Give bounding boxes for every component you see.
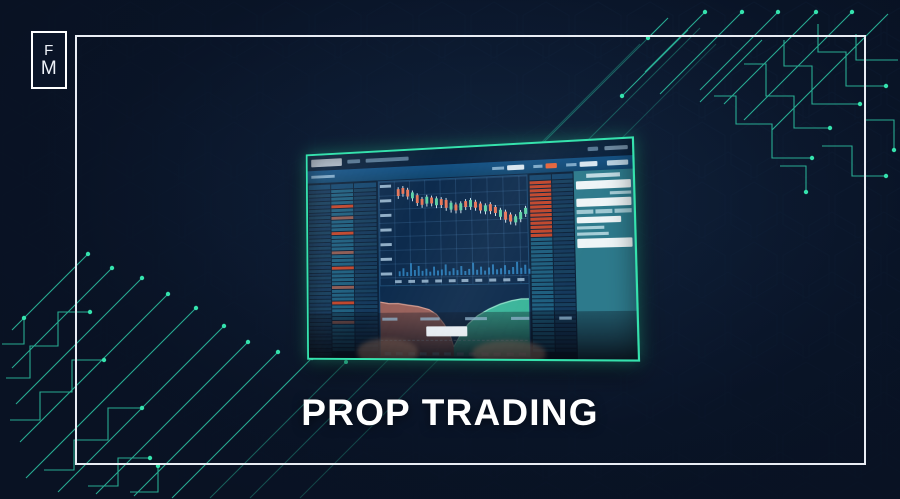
- page-title: PROP TRADING: [0, 392, 900, 434]
- table-row: [554, 270, 575, 273]
- symbol-tab[interactable]: [311, 175, 334, 179]
- table-row: [553, 233, 574, 237]
- trading-monitor: [306, 136, 640, 361]
- x-tick: [503, 278, 510, 281]
- table-row: [309, 288, 331, 291]
- table-row: [332, 297, 354, 300]
- table-row: [532, 274, 553, 277]
- table-row: [310, 304, 332, 307]
- y-tick: [380, 199, 391, 202]
- order-field-1[interactable]: [576, 179, 631, 190]
- menu-item-3[interactable]: [588, 147, 599, 152]
- table-row: [531, 266, 552, 269]
- hand-left: [357, 338, 418, 359]
- table-row: [332, 266, 354, 269]
- table-row: [355, 278, 377, 281]
- y-tick: [380, 214, 391, 217]
- table-row: [355, 309, 377, 312]
- table-row: [530, 225, 551, 229]
- fm-logo-letter-f: F: [44, 43, 54, 58]
- table-row: [309, 269, 331, 272]
- y-tick: [381, 272, 392, 275]
- table-row: [355, 250, 377, 253]
- quote-value-2: [545, 163, 556, 169]
- candlestick-series: [394, 180, 524, 233]
- quick-order-input[interactable]: [426, 326, 467, 336]
- fm-logo: F M: [31, 31, 67, 89]
- table-row: [309, 292, 331, 295]
- sales-column-1-header: [529, 174, 550, 180]
- order-label-3: [577, 232, 609, 236]
- fm-logo-letter-m: M: [41, 59, 57, 78]
- table-row: [553, 229, 574, 233]
- dashboard-brand-logo: [311, 158, 342, 167]
- order-panel-title: [586, 172, 620, 178]
- table-row: [355, 305, 377, 308]
- table-row: [355, 270, 377, 273]
- table-row: [332, 274, 354, 277]
- chart-y-axis: [380, 185, 394, 276]
- table-row: [553, 253, 574, 257]
- table-row: [531, 250, 552, 254]
- table-row: [355, 274, 377, 277]
- table-row: [309, 258, 331, 261]
- quote-value-3: [580, 161, 598, 167]
- menu-item-2[interactable]: [366, 157, 409, 163]
- table-row: [355, 301, 377, 304]
- x-tick: [421, 280, 428, 283]
- x-tick: [462, 279, 469, 282]
- menu-item-4[interactable]: [604, 145, 627, 150]
- footer-label-2: [420, 317, 439, 320]
- table-row: [355, 254, 377, 257]
- trading-monitor-wrapper: [296, 145, 632, 360]
- table-row: [332, 270, 354, 273]
- table-row: [309, 300, 331, 303]
- table-row: [554, 291, 575, 294]
- table-row: [355, 285, 377, 288]
- table-row: [332, 301, 354, 304]
- table-row: [355, 293, 377, 296]
- table-row: [532, 299, 553, 302]
- quote-label-1: [492, 167, 504, 171]
- order-toggle-buy[interactable]: [577, 209, 594, 214]
- footer-label-4: [511, 317, 529, 320]
- table-row: [531, 233, 552, 237]
- quote-value-1: [507, 165, 524, 171]
- table-row: [332, 278, 354, 281]
- order-toggle-group[interactable]: [577, 208, 632, 214]
- quote-label-3: [566, 163, 576, 167]
- table-row: [355, 258, 377, 261]
- candlestick-chart[interactable]: [378, 174, 530, 286]
- y-tick: [381, 258, 392, 261]
- table-row: [532, 291, 553, 294]
- trading-dashboard-screen: [308, 139, 638, 360]
- table-row: [309, 296, 331, 299]
- table-row: [355, 282, 377, 285]
- table-row: [531, 242, 552, 246]
- table-row: [532, 279, 553, 282]
- table-row: [553, 245, 574, 249]
- table-row: [309, 262, 331, 265]
- table-row: [332, 294, 354, 297]
- table-row: [355, 297, 377, 300]
- account-chip[interactable]: [607, 159, 628, 165]
- quote-item-3: [566, 161, 597, 168]
- table-row: [531, 254, 552, 258]
- table-row: [532, 287, 553, 290]
- table-row: [553, 241, 574, 245]
- table-row: [553, 249, 574, 253]
- table-row: [332, 290, 354, 293]
- order-label-2: [577, 226, 604, 230]
- footer-label-3: [465, 317, 487, 320]
- y-tick: [380, 185, 391, 188]
- table-row: [531, 246, 552, 250]
- x-tick: [448, 279, 455, 282]
- table-row: [554, 307, 575, 310]
- table-row: [554, 278, 575, 281]
- table-row: [532, 283, 553, 286]
- account-value: [607, 159, 628, 165]
- symbol-label: [311, 175, 334, 179]
- menu-item-1[interactable]: [347, 159, 360, 163]
- table-row: [332, 286, 354, 289]
- table-row: [531, 262, 552, 266]
- table-row: [332, 309, 354, 312]
- table-row: [554, 286, 575, 289]
- table-row: [532, 303, 553, 306]
- footer-label-5: [559, 317, 572, 320]
- order-submit-button[interactable]: [577, 237, 632, 248]
- x-tick: [435, 279, 442, 282]
- table-row: [309, 277, 331, 280]
- x-tick: [517, 278, 524, 281]
- footer-label-1: [382, 318, 397, 321]
- table-row: [309, 266, 331, 269]
- x-tick: [489, 278, 496, 281]
- table-row: [553, 266, 574, 270]
- table-row: [355, 266, 377, 269]
- y-tick: [381, 243, 392, 246]
- y-tick: [380, 228, 391, 231]
- quote-label-2: [533, 165, 542, 168]
- table-row: [532, 295, 553, 298]
- table-row: [554, 295, 575, 298]
- table-row: [554, 282, 575, 285]
- x-tick: [408, 280, 415, 283]
- table-row: [332, 263, 354, 266]
- table-row: [332, 305, 354, 308]
- table-row: [531, 238, 552, 242]
- table-row: [332, 282, 354, 285]
- table-row: [554, 303, 575, 306]
- table-row: [531, 258, 552, 262]
- table-row: [309, 273, 331, 276]
- table-row: [531, 270, 552, 273]
- order-field-2[interactable]: [576, 197, 631, 207]
- table-row: [553, 237, 574, 241]
- table-row: [532, 307, 553, 310]
- quote-item-2: [533, 163, 557, 169]
- sales-column-2-header: [551, 173, 572, 179]
- table-row: [309, 281, 331, 284]
- table-row: [332, 259, 354, 262]
- table-row: [553, 262, 574, 266]
- table-row: [553, 257, 574, 261]
- poster-canvas: F M: [0, 0, 900, 499]
- table-row: [309, 285, 331, 288]
- volume-series: [395, 258, 525, 277]
- table-row: [355, 289, 377, 292]
- x-tick: [395, 280, 402, 283]
- table-row: [531, 229, 552, 233]
- table-row: [332, 255, 354, 258]
- order-label-1: [610, 190, 631, 194]
- table-row: [310, 307, 332, 310]
- order-toggle-flat[interactable]: [614, 208, 631, 213]
- table-row: [355, 262, 377, 265]
- hand-right: [472, 340, 545, 359]
- order-toggle-sell[interactable]: [595, 209, 612, 214]
- table-row: [554, 274, 575, 277]
- quote-item-1: [492, 165, 524, 172]
- order-field-3[interactable]: [577, 216, 621, 224]
- table-row: [554, 299, 575, 302]
- x-tick: [476, 279, 483, 282]
